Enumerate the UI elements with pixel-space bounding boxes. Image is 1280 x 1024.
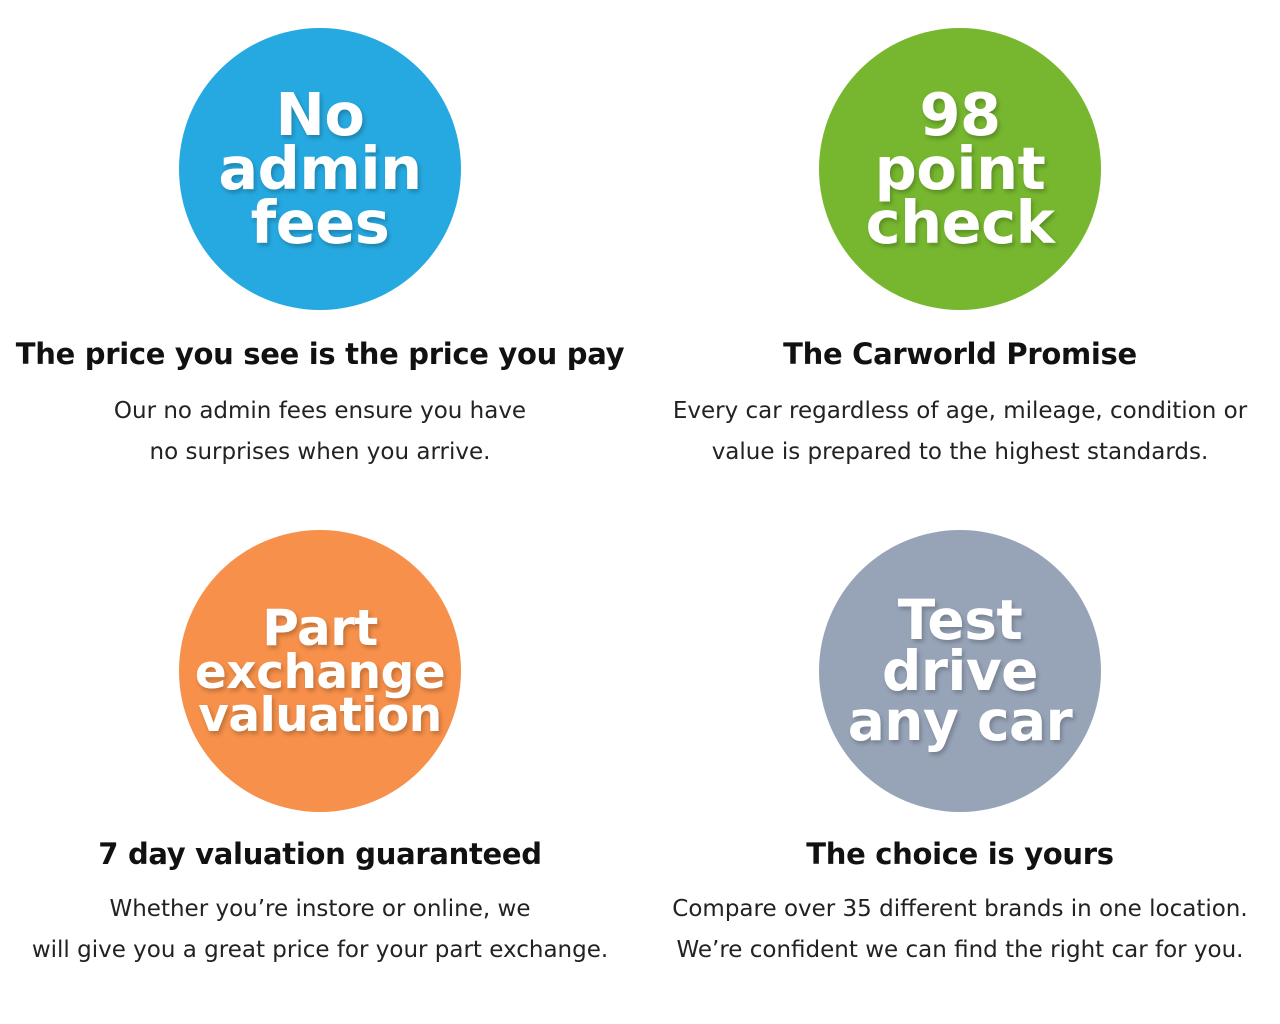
- card-body-line-1: Our no admin fees ensure you have: [114, 391, 526, 432]
- badge-text: 98 point check: [819, 88, 1101, 251]
- card-heading: 7 day valuation guaranteed: [98, 837, 541, 871]
- badge-circle-test-drive-any-car: Test drive any car: [819, 530, 1101, 812]
- feature-card-part-exchange-valuation[interactable]: Part exchange valuation 7 day valuation …: [0, 512, 640, 1024]
- feature-card-test-drive-any-car[interactable]: Test drive any car The choice is yours C…: [640, 512, 1280, 1024]
- card-body: Every car regardless of age, mileage, co…: [673, 391, 1247, 473]
- badge-circle-98-point-check: 98 point check: [819, 28, 1101, 310]
- card-heading: The Carworld Promise: [783, 337, 1137, 371]
- card-body: Compare over 35 different brands in one …: [672, 889, 1247, 971]
- card-heading: The choice is yours: [806, 837, 1113, 871]
- feature-grid: No admin fees The price you see is the p…: [0, 0, 1280, 1024]
- card-body-line-1: Compare over 35 different brands in one …: [672, 889, 1247, 930]
- card-heading: The price you see is the price you pay: [16, 337, 624, 371]
- feature-card-no-admin-fees[interactable]: No admin fees The price you see is the p…: [0, 0, 640, 512]
- card-body-line-1: Whether you’re instore or online, we: [32, 889, 608, 930]
- badge-line-3: fees: [185, 196, 455, 250]
- badge-line-3: check: [825, 196, 1095, 250]
- card-body-line-2: will give you a great price for your par…: [32, 930, 608, 971]
- badge-circle-part-exchange-valuation: Part exchange valuation: [179, 530, 461, 812]
- feature-card-98-point-check[interactable]: 98 point check The Carworld Promise Ever…: [640, 0, 1280, 512]
- badge-text: Test drive any car: [819, 595, 1101, 747]
- card-body-line-2: value is prepared to the highest standar…: [673, 432, 1247, 473]
- card-body-line-2: We’re confident we can find the right ca…: [672, 930, 1247, 971]
- card-body: Whether you’re instore or online, we wil…: [32, 889, 608, 971]
- badge-circle-no-admin-fees: No admin fees: [179, 28, 461, 310]
- badge-text: Part exchange valuation: [179, 605, 461, 737]
- card-body-line-1: Every car regardless of age, mileage, co…: [673, 391, 1247, 432]
- badge-line-3: valuation: [185, 694, 455, 737]
- badge-line-3: any car: [825, 696, 1095, 747]
- badge-text: No admin fees: [179, 88, 461, 251]
- card-body-line-2: no surprises when you arrive.: [114, 432, 526, 473]
- badge-line-1: Part: [185, 605, 455, 651]
- card-body: Our no admin fees ensure you have no sur…: [114, 391, 526, 473]
